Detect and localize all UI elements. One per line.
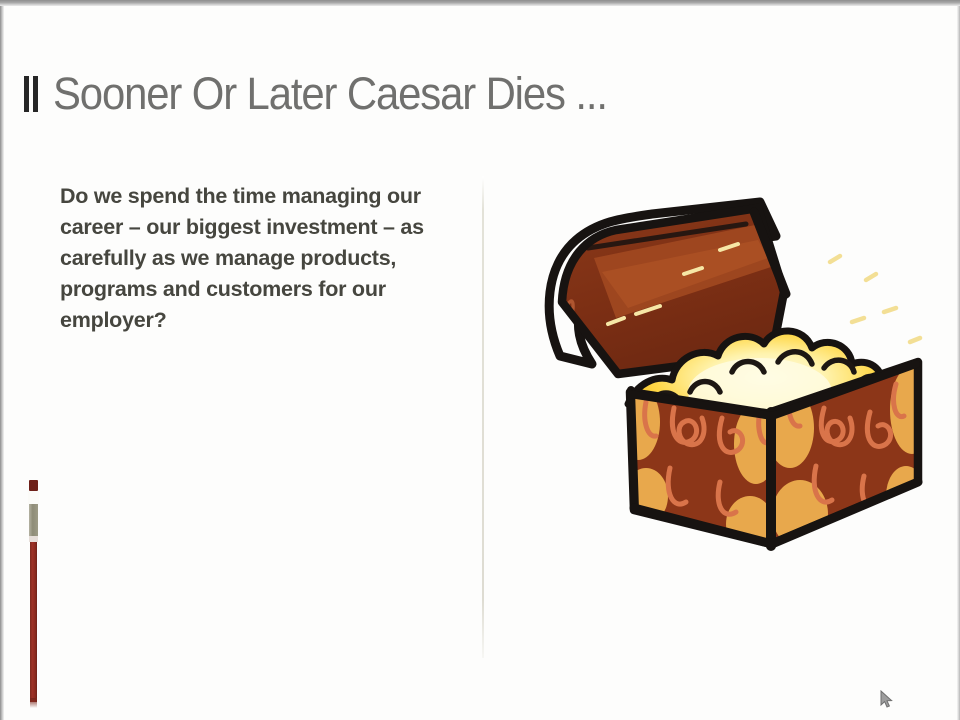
chest-left-post [631,390,635,510]
pencil-gap [28,491,39,504]
pencil-accent-bar [28,480,39,708]
pencil-shaft [30,542,37,702]
vertical-divider [482,176,484,658]
pencil-tip-fade [30,698,37,708]
pause-bars-icon [22,76,40,112]
pencil-ferrule [29,504,38,536]
slide-body-text: Do we spend the time managing our career… [60,181,470,336]
treasure-chest-icon [524,196,944,566]
pencil-eraser-cap [29,480,38,491]
slide-title-row: Sooner Or Later Caesar Dies ... [22,64,649,124]
slide-viewer: Sooner Or Later Caesar Dies ... Do we sp… [0,0,960,720]
slide-canvas: Sooner Or Later Caesar Dies ... Do we sp… [4,6,957,720]
mouse-pointer-icon [880,690,894,710]
page-title: Sooner Or Later Caesar Dies ... [53,70,607,118]
chest-gold-sparkles [830,256,920,342]
